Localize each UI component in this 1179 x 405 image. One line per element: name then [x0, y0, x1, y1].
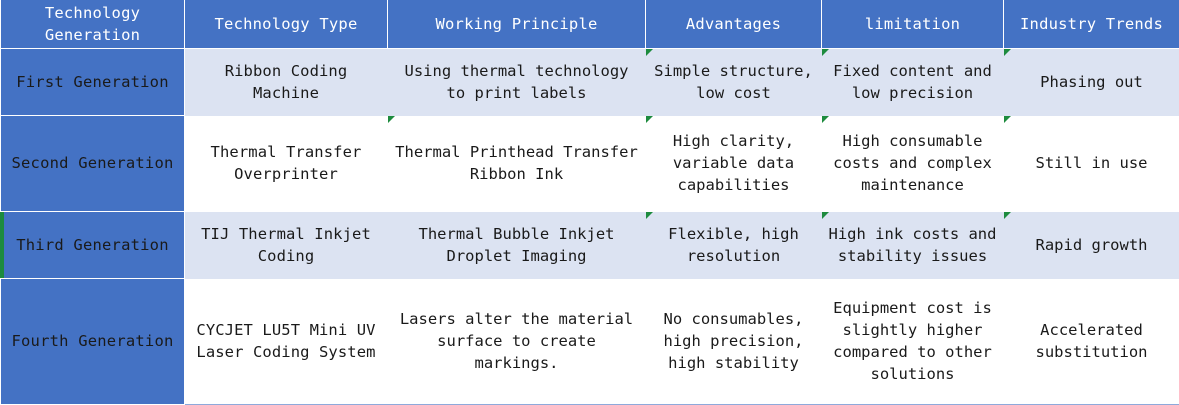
cell-generation: Fourth Generation [1, 278, 185, 404]
table-row: Third Generation TIJ Thermal Inkjet Codi… [1, 212, 1179, 279]
cell-advantages: Flexible, high resolution [646, 212, 822, 279]
cell-generation: Second Generation [1, 115, 185, 211]
technology-generation-comparison-table: Technology Generation Technology Type Wo… [0, 0, 1179, 405]
cell-advantages: No consumables, high precision, high sta… [646, 278, 822, 404]
column-header-working-principle: Working Principle [388, 0, 646, 49]
cell-working-principle: Lasers alter the material surface to cre… [388, 278, 646, 404]
cell-working-principle: Thermal Bubble Inkjet Droplet Imaging [388, 212, 646, 279]
cell-technology-type: CYCJET LU5T Mini UV Laser Coding System [185, 278, 388, 404]
cell-technology-type: Thermal Transfer Overprinter [185, 115, 388, 211]
cell-generation: First Generation [1, 49, 185, 116]
cell-working-principle: Thermal Printhead Transfer Ribbon Ink [388, 115, 646, 211]
table-row: Fourth Generation CYCJET LU5T Mini UV La… [1, 278, 1179, 404]
column-header-technology-type: Technology Type [185, 0, 388, 49]
column-header-advantages: Advantages [646, 0, 822, 49]
column-header-industry-trends: Industry Trends [1004, 0, 1179, 49]
cell-generation: Third Generation [1, 212, 185, 279]
table-header-row: Technology Generation Technology Type Wo… [1, 0, 1179, 49]
cell-industry-trends: Rapid growth [1004, 212, 1179, 279]
cell-working-principle: Using thermal technology to print labels [388, 49, 646, 116]
cell-technology-type: TIJ Thermal Inkjet Coding [185, 212, 388, 279]
cell-limitation: Fixed content and low precision [822, 49, 1004, 116]
cell-technology-type: Ribbon Coding Machine [185, 49, 388, 116]
table-row: Second Generation Thermal Transfer Overp… [1, 115, 1179, 211]
cell-advantages: Simple structure, low cost [646, 49, 822, 116]
cell-industry-trends: Phasing out [1004, 49, 1179, 116]
cell-limitation: High consumable costs and complex mainte… [822, 115, 1004, 211]
cell-limitation: Equipment cost is slightly higher compar… [822, 278, 1004, 404]
comparison-table: Technology Generation Technology Type Wo… [0, 0, 1179, 405]
cell-limitation: High ink costs and stability issues [822, 212, 1004, 279]
table-row: First Generation Ribbon Coding Machine U… [1, 49, 1179, 116]
cell-industry-trends: Accelerated substitution [1004, 278, 1179, 404]
column-header-limitation: limitation [822, 0, 1004, 49]
column-header-technology-generation: Technology Generation [1, 0, 185, 49]
cell-advantages: High clarity, variable data capabilities [646, 115, 822, 211]
cell-industry-trends: Still in use [1004, 115, 1179, 211]
